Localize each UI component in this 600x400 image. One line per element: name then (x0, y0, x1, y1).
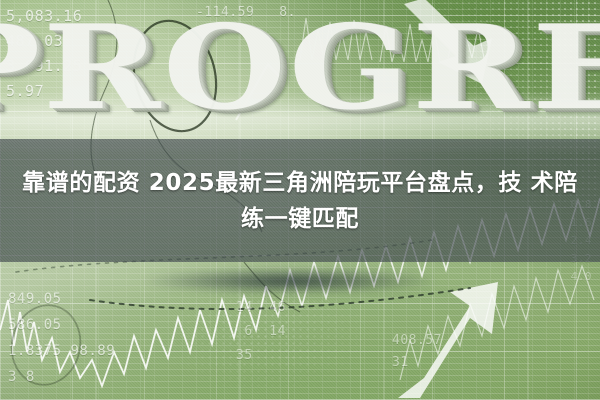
thumbnail-image: 5,083.16 487.03 3,691.25 5.97 -114.59 8.… (0, 0, 600, 400)
vignette-shade (0, 0, 600, 400)
